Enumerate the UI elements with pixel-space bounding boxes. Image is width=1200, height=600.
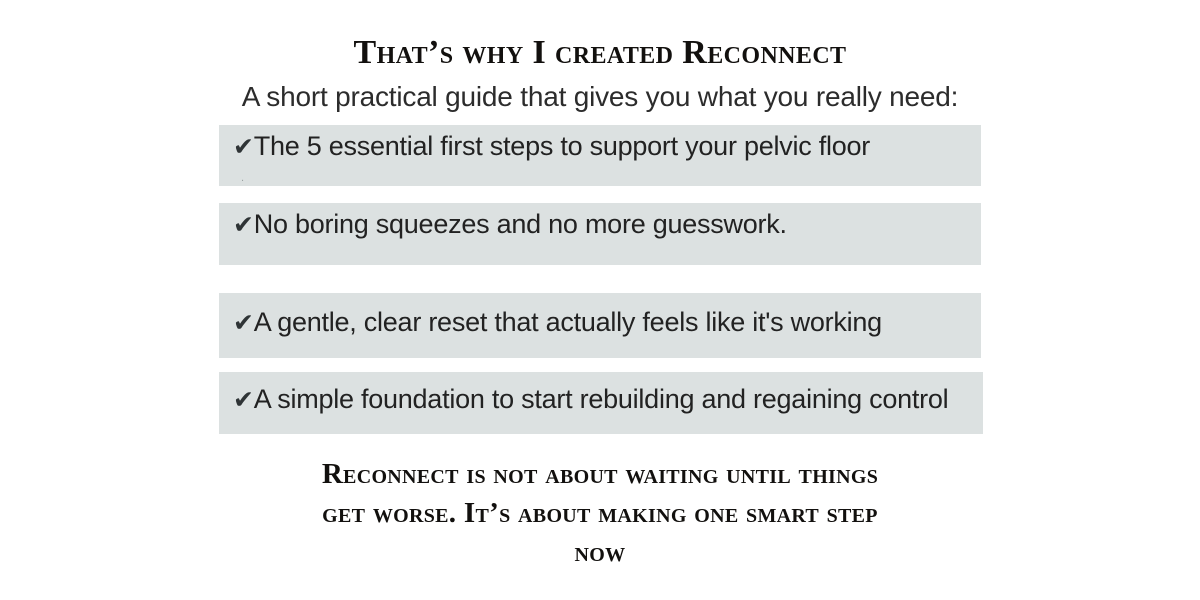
list-item: ✔A simple foundation to start rebuilding… — [219, 372, 983, 434]
closing-line-3: now — [0, 533, 1200, 572]
closing-line-1: Reconnect is not about waiting until thi… — [0, 455, 1200, 494]
benefit-line: ✔No boring squeezes and no more guesswor… — [233, 207, 981, 242]
closing-statement: Reconnect is not about waiting until thi… — [0, 455, 1200, 572]
list-item: ✔A gentle, clear reset that actually fee… — [219, 293, 981, 358]
check-icon: ✔ — [233, 130, 254, 164]
closing-line-2: get worse. It’s about making one smart s… — [0, 494, 1200, 533]
benefit-line: ✔The 5 essential first steps to support … — [233, 129, 981, 164]
benefit-label: No boring squeezes and no more guesswork… — [254, 209, 787, 239]
list-item: ✔No boring squeezes and no more guesswor… — [219, 203, 981, 265]
check-icon: ✔ — [233, 208, 254, 242]
stray-period-mark: . — [241, 173, 244, 184]
page-title: That’s why I created Reconnect — [0, 34, 1200, 72]
benefit-line: ✔A simple foundation to start rebuilding… — [233, 382, 983, 417]
benefit-label: A gentle, clear reset that actually feel… — [254, 307, 882, 337]
list-item: ✔The 5 essential first steps to support … — [219, 125, 981, 186]
benefit-label: A simple foundation to start rebuilding … — [254, 384, 949, 414]
check-icon: ✔ — [233, 383, 254, 417]
promo-slide: That’s why I created Reconnect A short p… — [0, 0, 1200, 600]
check-icon: ✔ — [233, 306, 254, 340]
page-subtitle: A short practical guide that gives you w… — [0, 80, 1200, 114]
benefit-label: The 5 essential first steps to support y… — [254, 131, 870, 161]
benefit-line: ✔A gentle, clear reset that actually fee… — [233, 305, 981, 340]
